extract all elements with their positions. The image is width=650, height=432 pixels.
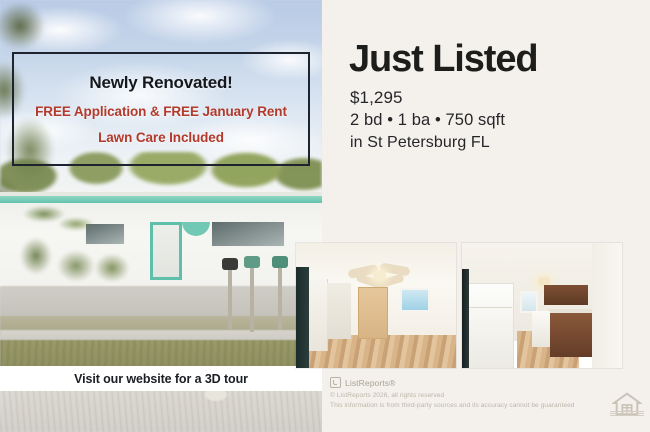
promo-overlay-box: Newly Renovated! FREE Application & FREE… xyxy=(12,52,310,166)
kitchen-window xyxy=(520,291,538,313)
ceiling-fan-light xyxy=(373,270,386,281)
bedroom-hallway xyxy=(327,283,351,339)
disclaimer-text: This information is from third-party sou… xyxy=(330,401,590,411)
bedroom-window xyxy=(400,288,430,312)
tour-caption: Visit our website for a 3D tour xyxy=(74,372,248,386)
bedroom-open-door xyxy=(309,279,328,351)
driveway xyxy=(0,286,322,320)
mailbox-post-2 xyxy=(250,268,254,332)
hero-photo: Newly Renovated! FREE Application & FREE… xyxy=(0,0,322,432)
shrub xyxy=(88,246,136,286)
listing-location: in St Petersburg FL xyxy=(350,134,490,152)
bedroom-dark-door xyxy=(296,267,309,368)
mailbox-post-1 xyxy=(228,268,232,330)
house-door xyxy=(150,222,182,280)
listing-price: $1,295 xyxy=(350,88,403,108)
mailbox-1 xyxy=(222,258,238,270)
mailbox-post-3 xyxy=(278,268,282,330)
promo-extra: Lawn Care Included xyxy=(98,130,224,145)
thumbnail-bedroom[interactable] xyxy=(296,243,456,368)
brand-name: ListReports® xyxy=(345,378,395,388)
listing-flyer: Newly Renovated! FREE Application & FREE… xyxy=(0,0,650,432)
copyright-text: © ListReports 2026, all rights reserved xyxy=(330,391,590,401)
listreports-logo-icon xyxy=(330,377,341,388)
brand-lockup: ListReports® xyxy=(330,377,590,388)
page-title: Just Listed xyxy=(349,40,538,78)
listing-specs: 2 bd • 1 ba • 750 sqft xyxy=(350,111,505,130)
thumbnail-strip xyxy=(296,243,626,368)
promo-offer: FREE Application & FREE January Rent xyxy=(35,104,287,119)
promo-title: Newly Renovated! xyxy=(89,73,232,93)
refrigerator-seam xyxy=(468,307,512,308)
footer: ListReports® © ListReports 2026, all rig… xyxy=(330,377,590,411)
caption-band: Visit our website for a 3D tour xyxy=(0,366,322,391)
front-lawn xyxy=(0,340,322,368)
foreground-concrete xyxy=(0,390,322,432)
mailbox-2 xyxy=(244,256,260,268)
kitchen-stove xyxy=(532,311,550,347)
kitchen-refrigerator xyxy=(468,283,514,368)
house-window-right xyxy=(210,220,286,248)
kitchen-door-edge xyxy=(462,269,469,368)
bedroom-closet-door xyxy=(358,287,388,339)
mailbox-3 xyxy=(272,256,288,268)
thumbnail-kitchen[interactable] xyxy=(462,243,622,368)
kitchen-lower-cabinets xyxy=(550,313,592,357)
kitchen-right-wall xyxy=(592,243,622,368)
equal-housing-caption xyxy=(610,411,644,416)
kitchen-upper-cabinets xyxy=(544,285,588,305)
